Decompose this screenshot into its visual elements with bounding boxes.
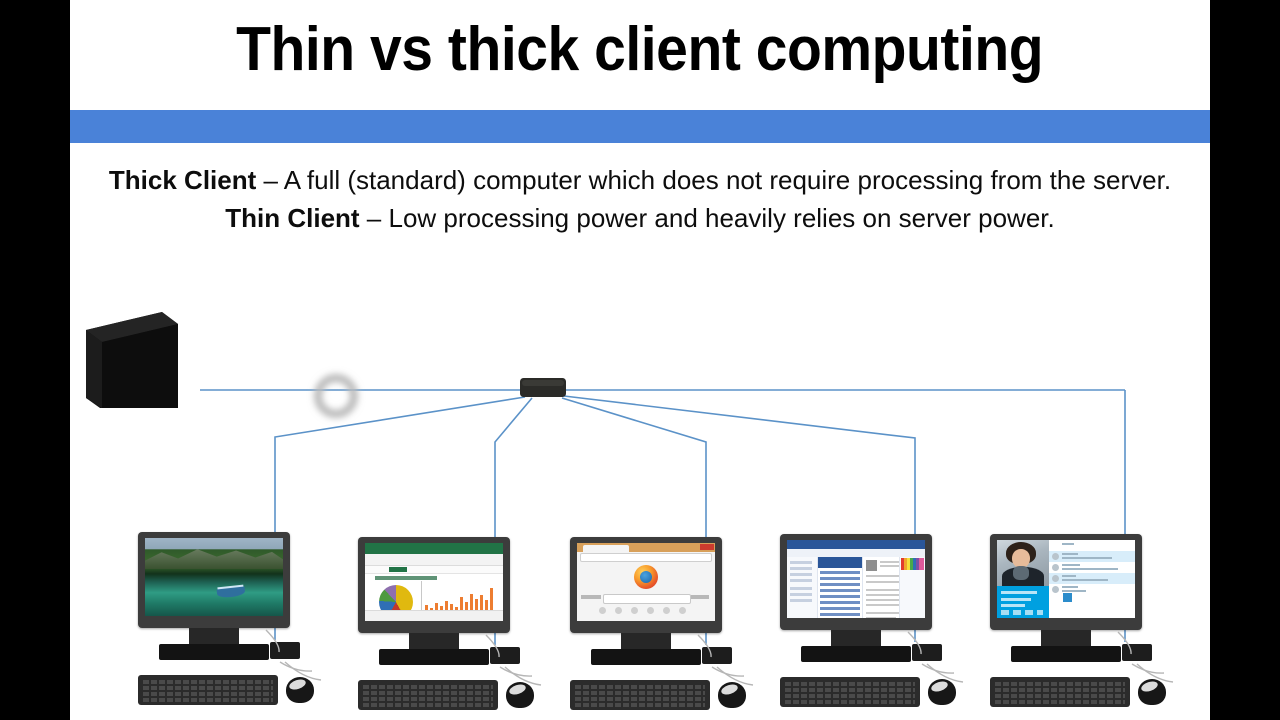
list-item[interactable] <box>1049 551 1135 562</box>
keyboard-row <box>995 694 1125 698</box>
keyboard-row <box>995 682 1125 686</box>
firefox-logo-icon <box>634 565 658 589</box>
avatar <box>866 560 877 571</box>
firefox-tab[interactable] <box>583 545 629 552</box>
thin-client-term: Thin Client <box>225 203 359 233</box>
monitor-base <box>159 644 269 660</box>
workstation-3[interactable] <box>562 537 752 712</box>
monitor-4 <box>780 534 932 630</box>
keyboard-row <box>143 698 273 702</box>
monitor-base <box>1011 646 1121 662</box>
keyboard-row <box>143 686 273 690</box>
keyboard-row <box>575 685 705 689</box>
contact-action-icons[interactable] <box>1001 610 1043 615</box>
color-swatch <box>901 558 924 570</box>
screen-2-excel-spreadsheet <box>365 543 503 621</box>
excel-window <box>365 543 503 621</box>
title-block: Thin vs thick client computing <box>70 0 1210 100</box>
workstation-2[interactable] <box>350 537 540 712</box>
body-copy: Thick Client – A full (standard) compute… <box>98 162 1182 238</box>
list-item[interactable] <box>1049 540 1135 551</box>
screen-1-nature-wallpaper <box>145 538 283 616</box>
nature-wallpaper-image <box>145 538 283 616</box>
keyboard-row <box>575 697 705 701</box>
list-item[interactable] <box>1049 573 1135 584</box>
email-message-list[interactable] <box>818 557 863 618</box>
keyboard-3[interactable] <box>570 680 710 710</box>
mountain-ridge <box>145 547 283 569</box>
keyboard-row <box>363 685 493 689</box>
excel-selected-cell <box>389 567 407 572</box>
thin-client-box-4[interactable] <box>912 644 942 661</box>
list-item[interactable] <box>1049 584 1135 595</box>
excel-sheet-tabs <box>365 610 503 621</box>
keyboard-row <box>785 688 915 692</box>
thin-client-box-2[interactable] <box>490 647 520 664</box>
email-list-header <box>818 557 862 568</box>
monitor-base <box>379 649 489 665</box>
monitor-3 <box>570 537 722 633</box>
highlight-ring <box>318 378 354 414</box>
keyboard-row <box>995 688 1125 692</box>
workstation-1[interactable] <box>130 532 320 707</box>
firefox-search-input[interactable] <box>603 594 691 604</box>
monitor-2 <box>358 537 510 633</box>
keyboard-2[interactable] <box>358 680 498 710</box>
slide-root: Thin vs thick client computing Thick Cli… <box>0 0 1280 720</box>
firefox-address-bar[interactable] <box>580 553 712 562</box>
thin-client-box-3[interactable] <box>702 647 732 664</box>
email-reading-pane <box>863 557 899 618</box>
conversation-list[interactable] <box>1049 540 1135 618</box>
thick-client-description: – A full (standard) computer which does … <box>256 165 1171 195</box>
monitor-5 <box>990 534 1142 630</box>
excel-sheet-title <box>375 576 437 580</box>
page-title: Thin vs thick client computing <box>236 19 1043 81</box>
email-side-pane <box>899 557 925 618</box>
close-icon[interactable] <box>700 544 714 550</box>
screen-3-firefox-start-page <box>577 543 715 621</box>
screen-4-email-client <box>787 540 925 618</box>
photo-scarf <box>1013 566 1029 580</box>
keyboard-5[interactable] <box>990 677 1130 707</box>
email-folder-pane[interactable] <box>787 557 818 618</box>
keyboard-row <box>575 691 705 695</box>
thick-client-term: Thick Client <box>109 165 256 195</box>
monitor-1 <box>138 532 290 628</box>
keyboard-row <box>363 697 493 701</box>
firefox-search-button[interactable] <box>691 595 709 599</box>
slide-canvas: Thin vs thick client computing Thick Cli… <box>70 0 1210 720</box>
keyboard-row <box>575 703 705 707</box>
thin-client-description: – Low processing power and heavily relie… <box>360 203 1055 233</box>
thin-client-box-5[interactable] <box>1122 644 1152 661</box>
contact-info-panel <box>997 586 1049 618</box>
accent-bar <box>70 110 1210 143</box>
monitor-base <box>801 646 911 662</box>
excel-title-bar <box>365 543 503 554</box>
thin-client-box-1[interactable] <box>270 642 300 659</box>
email-window <box>787 540 925 618</box>
message-thumbnail <box>1063 593 1072 602</box>
definition-thin-client: Thin Client – Low processing power and h… <box>98 200 1182 238</box>
keyboard-row <box>995 700 1125 704</box>
network-switch-icon <box>520 378 566 397</box>
definition-thick-client: Thick Client – A full (standard) compute… <box>98 162 1182 200</box>
firefox-search-label <box>581 595 601 599</box>
contact-photo <box>997 540 1049 586</box>
keyboard-row <box>363 691 493 695</box>
excel-ribbon <box>365 554 503 566</box>
excel-formula-bar <box>365 566 503 574</box>
workstation-4[interactable] <box>772 534 962 709</box>
keyboard-row <box>785 700 915 704</box>
list-item[interactable] <box>1049 562 1135 573</box>
keyboard-row <box>363 703 493 707</box>
firefox-search-engines <box>599 607 695 615</box>
server-icon <box>86 312 178 408</box>
keyboard-1[interactable] <box>138 675 278 705</box>
keyboard-row <box>143 680 273 684</box>
screen-5-skype-contact-card <box>997 540 1135 618</box>
keyboard-row <box>785 682 915 686</box>
network-diagram <box>70 290 1210 720</box>
email-title-bar <box>787 540 925 549</box>
boat-shape <box>216 586 245 598</box>
skype-window <box>997 540 1135 618</box>
keyboard-row <box>785 694 915 698</box>
workstation-5[interactable] <box>982 534 1172 709</box>
keyboard-row <box>143 692 273 696</box>
firefox-window <box>577 543 715 621</box>
monitor-base <box>591 649 701 665</box>
keyboard-4[interactable] <box>780 677 920 707</box>
